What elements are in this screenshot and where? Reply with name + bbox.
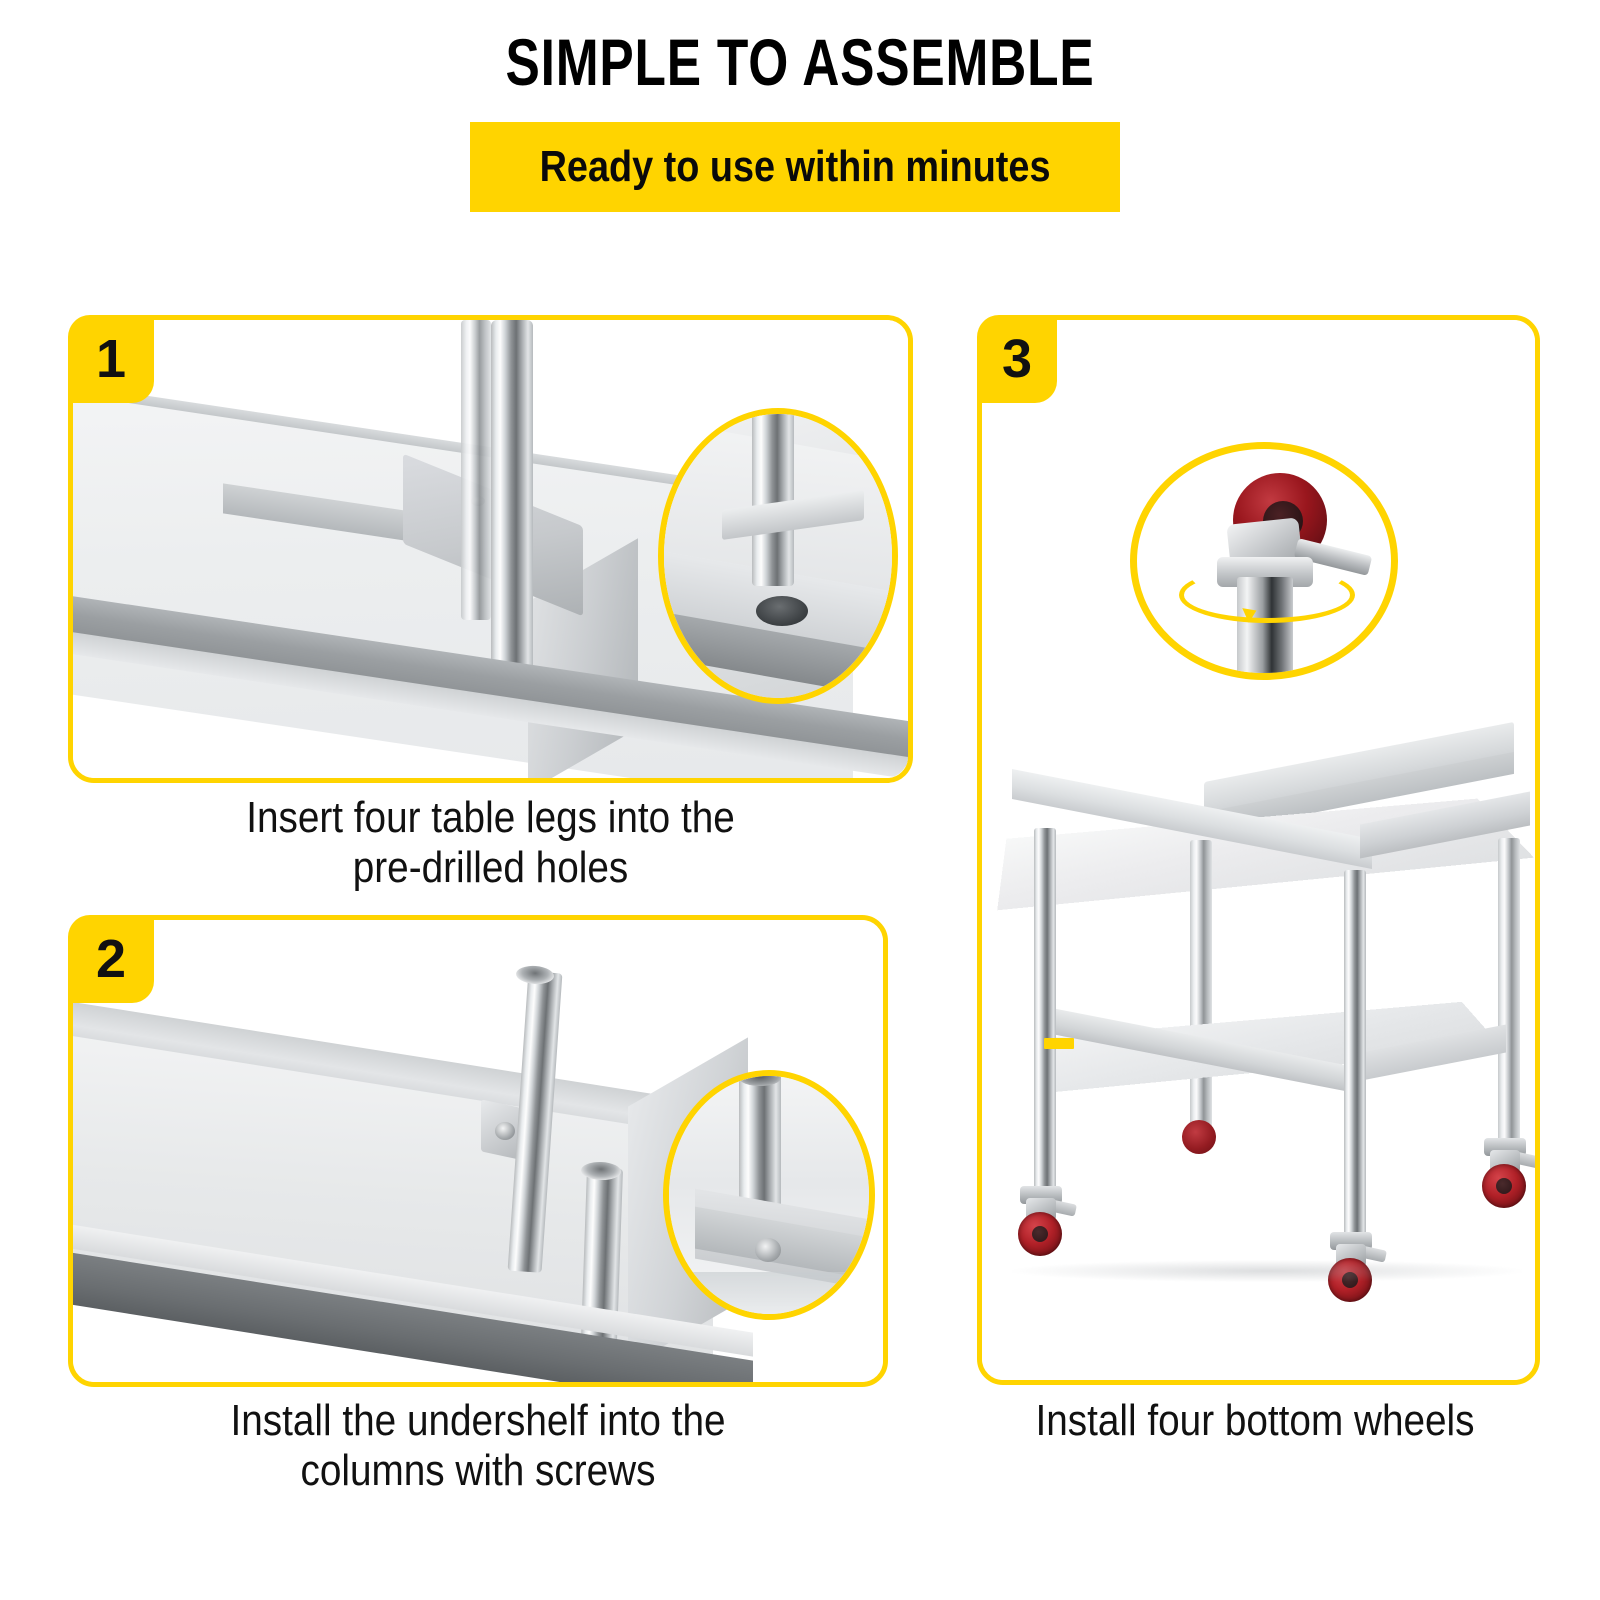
- caster-back-right: [1474, 1132, 1535, 1208]
- table-leg-secondary: [461, 320, 491, 620]
- assembly-instruction-page: SIMPLE TO ASSEMBLE Ready to use within m…: [0, 0, 1600, 1600]
- floor-shadow: [1012, 1260, 1522, 1282]
- table-leg-front-left: [1034, 828, 1056, 1196]
- step-panel-2: 2: [68, 915, 888, 1387]
- table-leg-back-mid: [1190, 840, 1212, 1140]
- inset-column: [739, 1070, 781, 1216]
- step-number-badge-3: 3: [977, 315, 1057, 403]
- table-leg-back-right: [1498, 838, 1520, 1148]
- caster-front-left: [1010, 1180, 1072, 1256]
- table-assembly: [982, 720, 1535, 1380]
- step-1-detail-inset: [658, 408, 898, 704]
- step-3-photo: [982, 320, 1535, 1380]
- step-2-caption: Install the undershelf into the columns …: [68, 1396, 888, 1496]
- step-3-image: [982, 320, 1535, 1380]
- step-panel-3: 3: [977, 315, 1540, 1385]
- step-2-photo: [73, 920, 883, 1382]
- table-leg-front-right: [1344, 870, 1366, 1238]
- step-3-caption-line1: Install four bottom wheels: [991, 1396, 1519, 1446]
- step-1-photo: [73, 320, 908, 778]
- step-1-caption-line1: Insert four table legs into the: [119, 793, 863, 843]
- step-2-caption-line1: Install the undershelf into the: [117, 1396, 839, 1446]
- step-panel-1: 1: [68, 315, 913, 783]
- step-1-image: [73, 320, 908, 778]
- step-number-badge-2: 2: [68, 915, 154, 1003]
- step-1-caption-line2: pre-drilled holes: [119, 843, 863, 893]
- step-number-badge-1: 1: [68, 315, 154, 403]
- subtitle-text: Ready to use within minutes: [540, 142, 1051, 192]
- rotation-arrow-ring-icon: [1179, 567, 1355, 623]
- subtitle-banner: Ready to use within minutes: [470, 122, 1120, 212]
- caster-back-mid: [1182, 1120, 1216, 1154]
- step-2-caption-line2: columns with screws: [117, 1446, 839, 1496]
- table-leg: [491, 320, 533, 715]
- inset-reflection: [679, 1272, 875, 1320]
- step-2-image: [73, 920, 883, 1382]
- inset-screw: [755, 1238, 781, 1262]
- step-3-detail-inset: [1130, 442, 1398, 680]
- inset-leg: [752, 408, 794, 586]
- step-3-caption: Install four bottom wheels: [955, 1396, 1555, 1446]
- step-2-detail-inset: [663, 1070, 875, 1320]
- bracket-screw: [495, 1122, 515, 1140]
- vevor-brand-label: [1044, 1038, 1074, 1049]
- step-1-caption: Insert four table legs into the pre-dril…: [68, 793, 913, 893]
- caster-hub: [1032, 1226, 1048, 1242]
- inset-pre-drilled-hole: [756, 596, 808, 626]
- inset-column-opening: [739, 1070, 781, 1086]
- page-title: SIMPLE TO ASSEMBLE: [176, 24, 1424, 100]
- caster-hub: [1496, 1178, 1512, 1194]
